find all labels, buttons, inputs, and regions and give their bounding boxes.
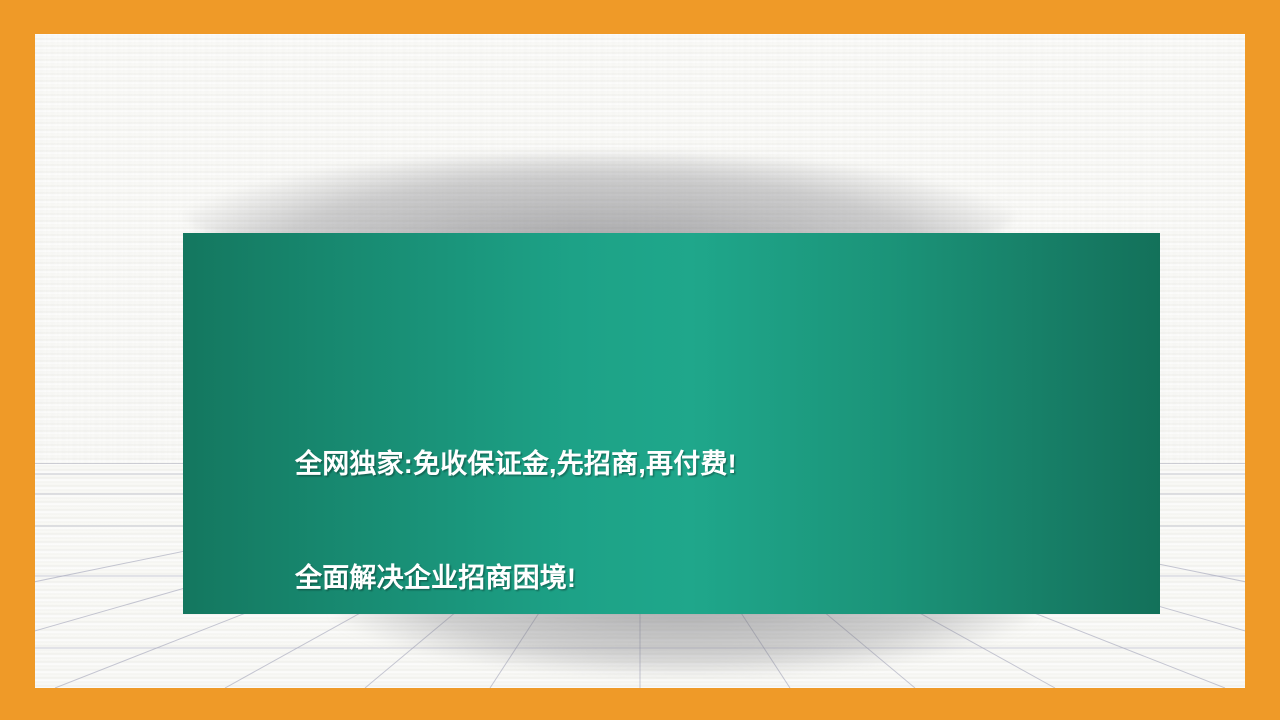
room-scene: 全网独家:免收保证金,先招商,再付费! 全面解决企业招商困境! 合作即签订保障协…: [35, 34, 1245, 688]
slide-canvas: 全网独家:免收保证金,先招商,再付费! 全面解决企业招商困境! 合作即签订保障协…: [0, 0, 1280, 720]
headline-line-1: 全网独家:免收保证金,先招商,再付费!: [295, 445, 1160, 483]
headline-line-2: 全面解决企业招商困境!: [295, 559, 1160, 597]
panel-text-block: 全网独家:免收保证金,先招商,再付费! 全面解决企业招商困境! 合作即签订保障协…: [295, 255, 1160, 688]
paragraph-headline: 全网独家:免收保证金,先招商,再付费! 全面解决企业招商困境!: [295, 369, 1160, 673]
message-panel: 全网独家:免收保证金,先招商,再付费! 全面解决企业招商困境! 合作即签订保障协…: [183, 233, 1160, 614]
